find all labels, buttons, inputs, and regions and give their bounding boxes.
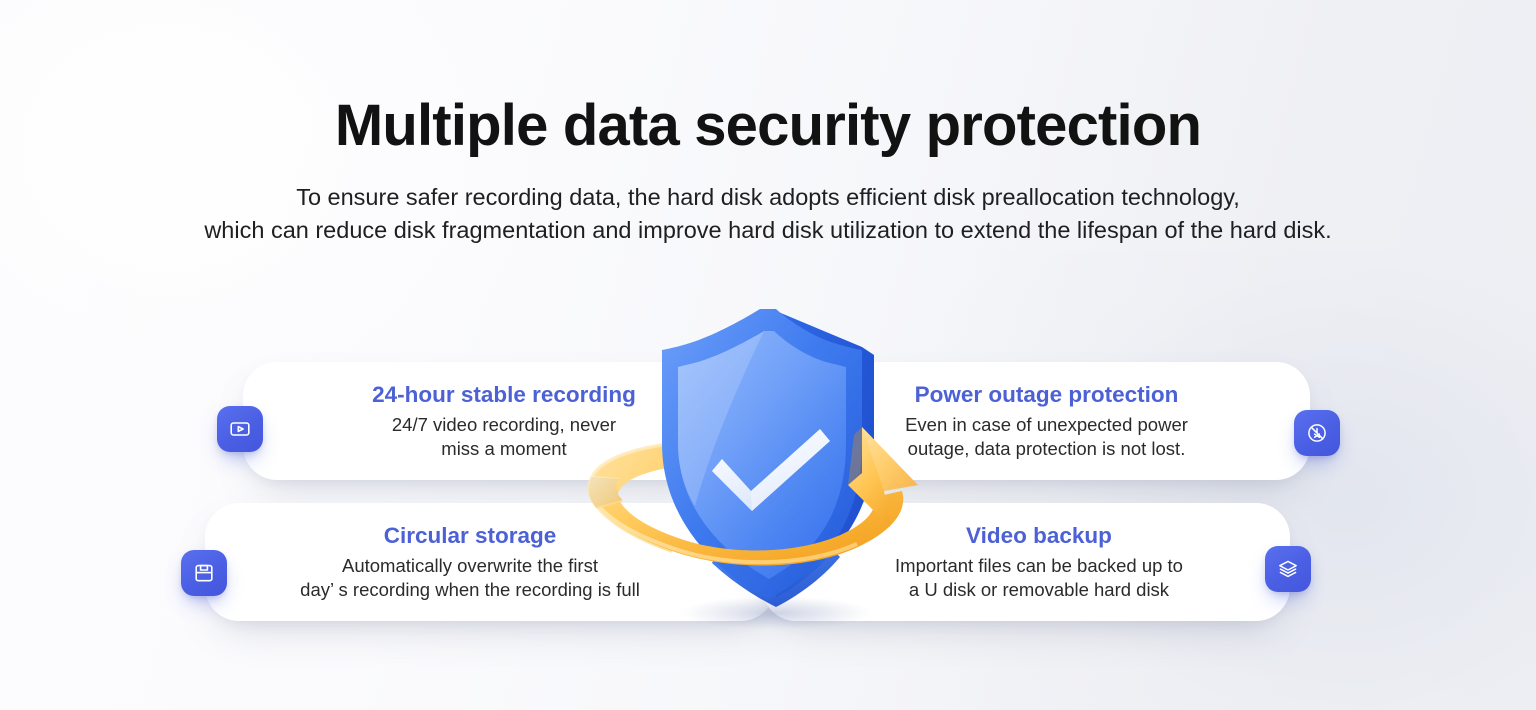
feature-card-text: 24-hour stable recording 24/7 video reco… — [207, 381, 735, 462]
feature-grid: 24-hour stable recording 24/7 video reco… — [0, 318, 1536, 648]
feature-card-power-outage[interactable]: Power outage protection Even in case of … — [765, 362, 1310, 480]
feature-heading: Power outage protection — [817, 381, 1276, 408]
header: Multiple data security protection To ens… — [0, 0, 1536, 248]
page-subtitle-line-1: To ensure safer recording data, the hard… — [0, 181, 1536, 214]
feature-heading: Circular storage — [227, 522, 713, 549]
feature-description: Automatically overwrite the first day’ s… — [227, 554, 713, 603]
feature-card-text: Video backup Important files can be back… — [808, 522, 1336, 603]
feature-heading: Video backup — [818, 522, 1260, 549]
feature-description-line-1: 24/7 video recording, never — [281, 413, 727, 437]
feature-description-line-2: day’ s recording when the recording is f… — [227, 578, 713, 602]
feature-description-line-1: Even in case of unexpected power — [817, 413, 1276, 437]
feature-description-line-2: miss a moment — [281, 437, 727, 461]
feature-icon-badge-power-outage[interactable] — [1294, 410, 1340, 456]
feature-description: Even in case of unexpected power outage,… — [817, 413, 1276, 462]
video-play-icon — [228, 417, 252, 441]
feature-card-text: Power outage protection Even in case of … — [807, 381, 1352, 462]
feature-card-text: Circular storage Automatically overwrite… — [153, 522, 723, 603]
feature-description-line-2: outage, data protection is not lost. — [817, 437, 1276, 461]
feature-heading: 24-hour stable recording — [281, 381, 727, 408]
save-disk-icon — [192, 561, 216, 585]
feature-description-line-1: Important files can be backed up to — [818, 554, 1260, 578]
layers-icon — [1276, 557, 1300, 581]
feature-card-video-backup[interactable]: Video backup Important files can be back… — [762, 503, 1290, 621]
infographic-stage: Multiple data security protection To ens… — [0, 0, 1536, 710]
feature-description-line-2: a U disk or removable hard disk — [818, 578, 1260, 602]
page-subtitle-line-2: which can reduce disk fragmentation and … — [0, 214, 1536, 247]
feature-icon-badge-video-backup[interactable] — [1265, 546, 1311, 592]
feature-card-circular-storage[interactable]: Circular storage Automatically overwrite… — [205, 503, 775, 621]
power-off-icon — [1305, 421, 1329, 445]
feature-card-stable-recording[interactable]: 24-hour stable recording 24/7 video reco… — [243, 362, 771, 480]
feature-icon-badge-circular-storage[interactable] — [181, 550, 227, 596]
feature-icon-badge-stable-recording[interactable] — [217, 406, 263, 452]
page-subtitle: To ensure safer recording data, the hard… — [0, 181, 1536, 248]
feature-description-line-1: Automatically overwrite the first — [227, 554, 713, 578]
feature-description: Important files can be backed up to a U … — [818, 554, 1260, 603]
page-title: Multiple data security protection — [0, 96, 1536, 157]
feature-description: 24/7 video recording, never miss a momen… — [281, 413, 727, 462]
